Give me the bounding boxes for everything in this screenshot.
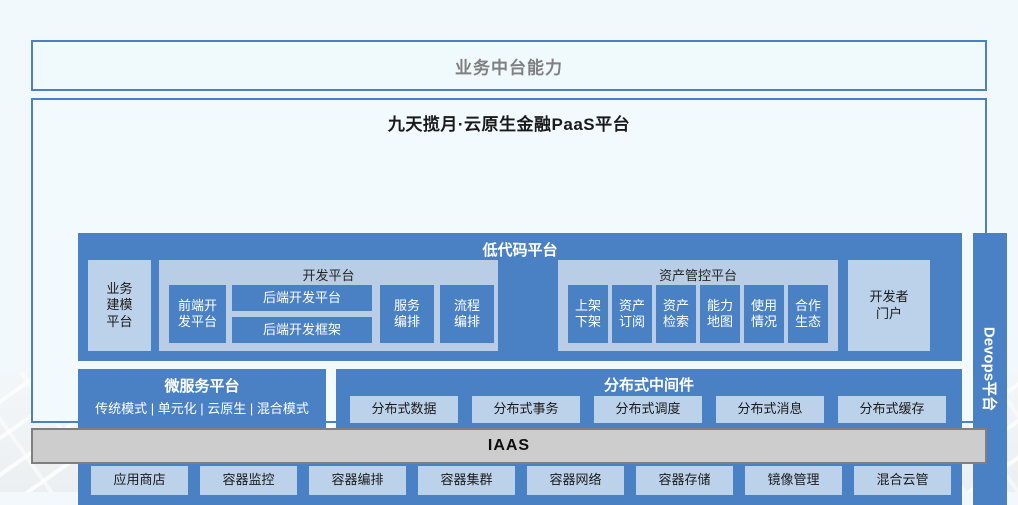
devops-platform-sidebar[interactable]: Devops平台 <box>973 233 1007 505</box>
iaas-label: IAAS <box>488 437 530 455</box>
lowcode-platform-title: 低代码平台 <box>78 239 962 260</box>
architecture-diagram: 业务中台能力 九天揽月·云原生金融PaaS平台 低代码平台 业务 建模 平台 开… <box>0 0 1018 492</box>
asset-item-listing-line-1: 上架 <box>575 298 601 314</box>
frontend-dev-line-2: 发平台 <box>178 314 217 330</box>
asset-item-search-line-2: 检索 <box>663 314 689 330</box>
microservice-platform-subtitle: 传统模式 | 单元化 | 云原生 | 混合模式 <box>78 398 326 417</box>
middleware-item-message[interactable]: 分布式消息 <box>716 396 824 423</box>
service-orchestration-box[interactable]: 服务 编排 <box>380 285 434 343</box>
container-item-image-mgmt[interactable]: 镜像管理 <box>745 466 842 495</box>
developer-portal-line-2: 门户 <box>876 306 902 322</box>
asset-item-subscription-line-2: 订阅 <box>619 314 645 330</box>
developer-portal-line-1: 开发者 <box>869 289 908 305</box>
middleware-item-scheduling[interactable]: 分布式调度 <box>594 396 702 423</box>
asset-item-listing[interactable]: 上架 下架 <box>568 285 608 343</box>
asset-item-partner-ecosystem-line-1: 合作 <box>795 298 821 314</box>
dev-platform-panel: 开发平台 前端开 发平台 后端开发平台 后端开发框架 服务 编排 流程 编排 <box>159 260 498 351</box>
devops-platform-label: Devops平台 <box>980 327 1001 411</box>
microservice-platform-group[interactable]: 微服务平台 传统模式 | 单元化 | 云原生 | 混合模式 <box>78 369 326 429</box>
middleware-title: 分布式中间件 <box>336 374 962 395</box>
middleware-group: 分布式中间件 分布式数据 分布式事务 分布式调度 分布式消息 分布式缓存 <box>336 369 962 429</box>
business-modeling-platform-box[interactable]: 业务 建模 平台 <box>88 260 151 351</box>
container-item-hybrid-cloud[interactable]: 混合云管 <box>854 466 951 495</box>
flow-orchestration-line-1: 流程 <box>454 298 480 314</box>
asset-item-search-line-1: 资产 <box>663 298 689 314</box>
lowcode-platform-group: 低代码平台 业务 建模 平台 开发平台 前端开 发平台 后端开发平台 后端开发框… <box>78 233 962 361</box>
developer-portal-box[interactable]: 开发者 门户 <box>848 260 930 351</box>
flow-orchestration-box[interactable]: 流程 编排 <box>440 285 494 343</box>
backend-dev-platform-box[interactable]: 后端开发平台 <box>232 285 372 311</box>
asset-item-subscription[interactable]: 资产 订阅 <box>612 285 652 343</box>
iaas-layer-box: IAAS <box>31 428 987 464</box>
service-orchestration-line-1: 服务 <box>394 298 420 314</box>
container-item-orchestration[interactable]: 容器编排 <box>309 466 406 495</box>
container-item-storage[interactable]: 容器存储 <box>636 466 733 495</box>
backend-dev-framework-box[interactable]: 后端开发框架 <box>232 317 372 343</box>
asset-item-subscription-line-1: 资产 <box>619 298 645 314</box>
asset-management-platform-title: 资产管控平台 <box>558 265 838 284</box>
microservice-platform-title: 微服务平台 <box>78 375 326 396</box>
asset-item-listing-line-2: 下架 <box>575 314 601 330</box>
container-item-network[interactable]: 容器网络 <box>527 466 624 495</box>
container-item-monitoring[interactable]: 容器监控 <box>200 466 297 495</box>
middleware-item-data[interactable]: 分布式数据 <box>350 396 458 423</box>
business-middle-platform-box: 业务中台能力 <box>31 40 987 91</box>
dev-platform-title: 开发平台 <box>159 265 498 284</box>
frontend-dev-platform-box[interactable]: 前端开 发平台 <box>169 285 226 343</box>
asset-item-capability-map-line-1: 能力 <box>707 298 733 314</box>
container-item-app-store[interactable]: 应用商店 <box>91 466 188 495</box>
paas-platform-panel: 九天揽月·云原生金融PaaS平台 低代码平台 业务 建模 平台 开发平台 前端开… <box>31 98 987 423</box>
asset-item-usage-line-1: 使用 <box>751 298 777 314</box>
asset-item-usage-line-2: 情况 <box>751 314 777 330</box>
business-modeling-line-1: 业务 <box>106 281 132 297</box>
asset-item-usage[interactable]: 使用 情况 <box>744 285 784 343</box>
service-orchestration-line-2: 编排 <box>394 314 420 330</box>
middleware-item-transaction[interactable]: 分布式事务 <box>472 396 580 423</box>
asset-item-capability-map[interactable]: 能力 地图 <box>700 285 740 343</box>
business-modeling-line-3: 平台 <box>106 314 132 330</box>
asset-item-partner-ecosystem[interactable]: 合作 生态 <box>788 285 828 343</box>
middleware-item-cache[interactable]: 分布式缓存 <box>838 396 946 423</box>
frontend-dev-line-1: 前端开 <box>178 298 217 314</box>
asset-item-capability-map-line-2: 地图 <box>707 314 733 330</box>
paas-platform-title: 九天揽月·云原生金融PaaS平台 <box>33 110 985 135</box>
container-item-cluster[interactable]: 容器集群 <box>418 466 515 495</box>
asset-item-search[interactable]: 资产 检索 <box>656 285 696 343</box>
flow-orchestration-line-2: 编排 <box>454 314 480 330</box>
asset-item-partner-ecosystem-line-2: 生态 <box>795 314 821 330</box>
business-modeling-line-2: 建模 <box>106 297 132 313</box>
asset-management-platform-panel: 资产管控平台 上架 下架 资产 订阅 资产 检索 能力 地图 <box>558 260 838 351</box>
business-middle-platform-label: 业务中台能力 <box>33 53 985 78</box>
